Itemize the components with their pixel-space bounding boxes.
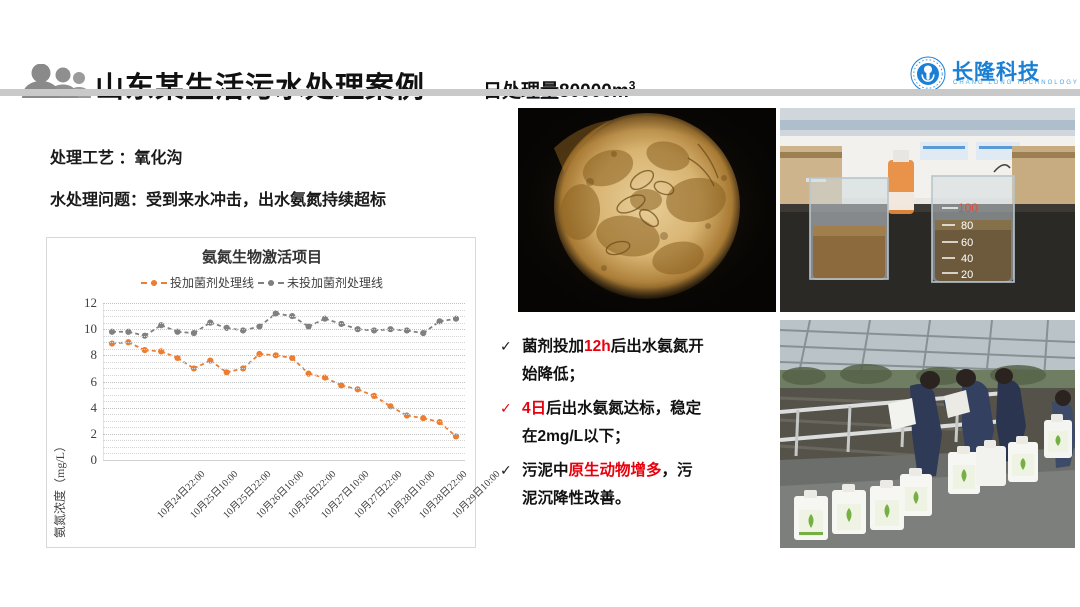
gridline <box>103 440 465 441</box>
chart-plot-area <box>103 303 465 460</box>
check-icon: ✓ <box>500 395 522 423</box>
svg-text:80: 80 <box>961 220 973 232</box>
bullet-seg: 泥沉降性改善。 <box>522 490 631 507</box>
logo-subname: CHANG LONG TECHNOLOGY <box>953 80 1079 86</box>
bullet-seg: 后出水氨氮达标，稳定 <box>546 400 701 417</box>
svg-text:40: 40 <box>961 253 973 265</box>
y-axis-tick: 12 <box>71 295 97 311</box>
y-axis-label: 氨氮浓度（mg/L） <box>51 440 68 538</box>
gridline <box>103 375 465 376</box>
beakers-sludge-photo: 80 60 40 20 100 <box>780 108 1075 312</box>
check-icon: ✓ <box>500 333 522 361</box>
microscope-sludge-photo <box>518 108 776 312</box>
gridline <box>103 427 465 428</box>
bullet-item: ✓ 4日后出水氨氮达标，稳定 在2mg/L以下； <box>500 395 775 451</box>
gridline <box>103 434 465 435</box>
bullet-seg-highlight: 原生动物增多 <box>569 462 662 479</box>
problem-line: 水处理问题：受到来水冲击，出水氨氮持续超标 <box>50 186 386 210</box>
header-divider <box>0 89 1080 96</box>
gridline <box>103 368 465 369</box>
y-axis-tick: 4 <box>71 400 97 416</box>
gridline <box>103 414 465 415</box>
page-title: 山东某生活污水处理案例 <box>95 64 425 106</box>
ammonia-chart-panel: 氨氮生物激活项目 投加菌剂处理线 未投加菌剂处理线 氨氮浓度（mg/L） 024… <box>46 237 476 548</box>
svg-text:100: 100 <box>958 201 978 215</box>
chart-plot-wrapper: 氨氮浓度（mg/L） 024681012 10月24日22:0010月25日10… <box>47 238 477 549</box>
y-axis-tick: 8 <box>71 347 97 363</box>
gridline <box>103 453 465 454</box>
bullet-seg: 始降低； <box>522 366 584 383</box>
gridline <box>103 303 465 304</box>
gridline <box>103 395 465 396</box>
y-axis-tick: 6 <box>71 374 97 390</box>
gridline <box>103 401 465 402</box>
bullet-item: ✓ 菌剂投加12h后出水氨氮开 始降低； <box>500 333 775 389</box>
gridline <box>103 388 465 389</box>
bullet-seg: 污泥中 <box>522 462 569 479</box>
series-segment <box>292 358 308 374</box>
field-dosing-photo <box>780 320 1075 548</box>
y-axis-tick: 2 <box>71 426 97 442</box>
x-axis-line <box>103 460 465 461</box>
gridline <box>103 329 465 330</box>
bullet-text: 4日后出水氨氮达标，稳定 在2mg/L以下； <box>522 395 701 451</box>
bullet-seg-highlight: 4日 <box>522 400 546 417</box>
slide-header: 山东某生活污水处理案例 日处理量80000m3 长隆科技 CHANG LONG … <box>0 22 1080 84</box>
bullet-item: ✓ 污泥中原生动物增多，污 泥沉降性改善。 <box>500 457 775 513</box>
gridline <box>103 447 465 448</box>
conclusion-bullets: ✓ 菌剂投加12h后出水氨氮开 始降低； ✓ 4日后出水氨氮达标，稳定 在2mg… <box>500 333 775 519</box>
bullet-seg: 菌剂投加 <box>522 338 584 355</box>
bullet-seg-highlight: 12h <box>584 338 611 355</box>
svg-text:20: 20 <box>961 269 973 281</box>
gridline <box>103 336 465 337</box>
gridline <box>103 323 465 324</box>
gridline <box>103 349 465 350</box>
check-icon: ✓ <box>500 457 522 485</box>
slide-root: 山东某生活污水处理案例 日处理量80000m3 长隆科技 CHANG LONG … <box>0 0 1080 607</box>
gridline <box>103 382 465 383</box>
process-line: 处理工艺 ：氧化沟 <box>50 144 182 168</box>
bullet-text: 菌剂投加12h后出水氨氮开 始降低； <box>522 333 704 389</box>
y-axis-tick: 0 <box>71 452 97 468</box>
gridline <box>103 362 465 363</box>
gridline <box>103 316 465 317</box>
logo-emblem-icon <box>910 56 946 92</box>
bullet-seg: 在2mg/L以下； <box>522 428 630 445</box>
gridline <box>103 408 465 409</box>
gridline <box>103 421 465 422</box>
y-axis-tick: 10 <box>71 321 97 337</box>
bullet-seg: ，污 <box>662 462 693 479</box>
gridline <box>103 342 465 343</box>
gridline <box>103 310 465 311</box>
bullet-text: 污泥中原生动物增多，污 泥沉降性改善。 <box>522 457 693 513</box>
svg-text:60: 60 <box>961 237 973 249</box>
gridline <box>103 355 465 356</box>
bullet-seg: 后出水氨氮开 <box>611 338 704 355</box>
